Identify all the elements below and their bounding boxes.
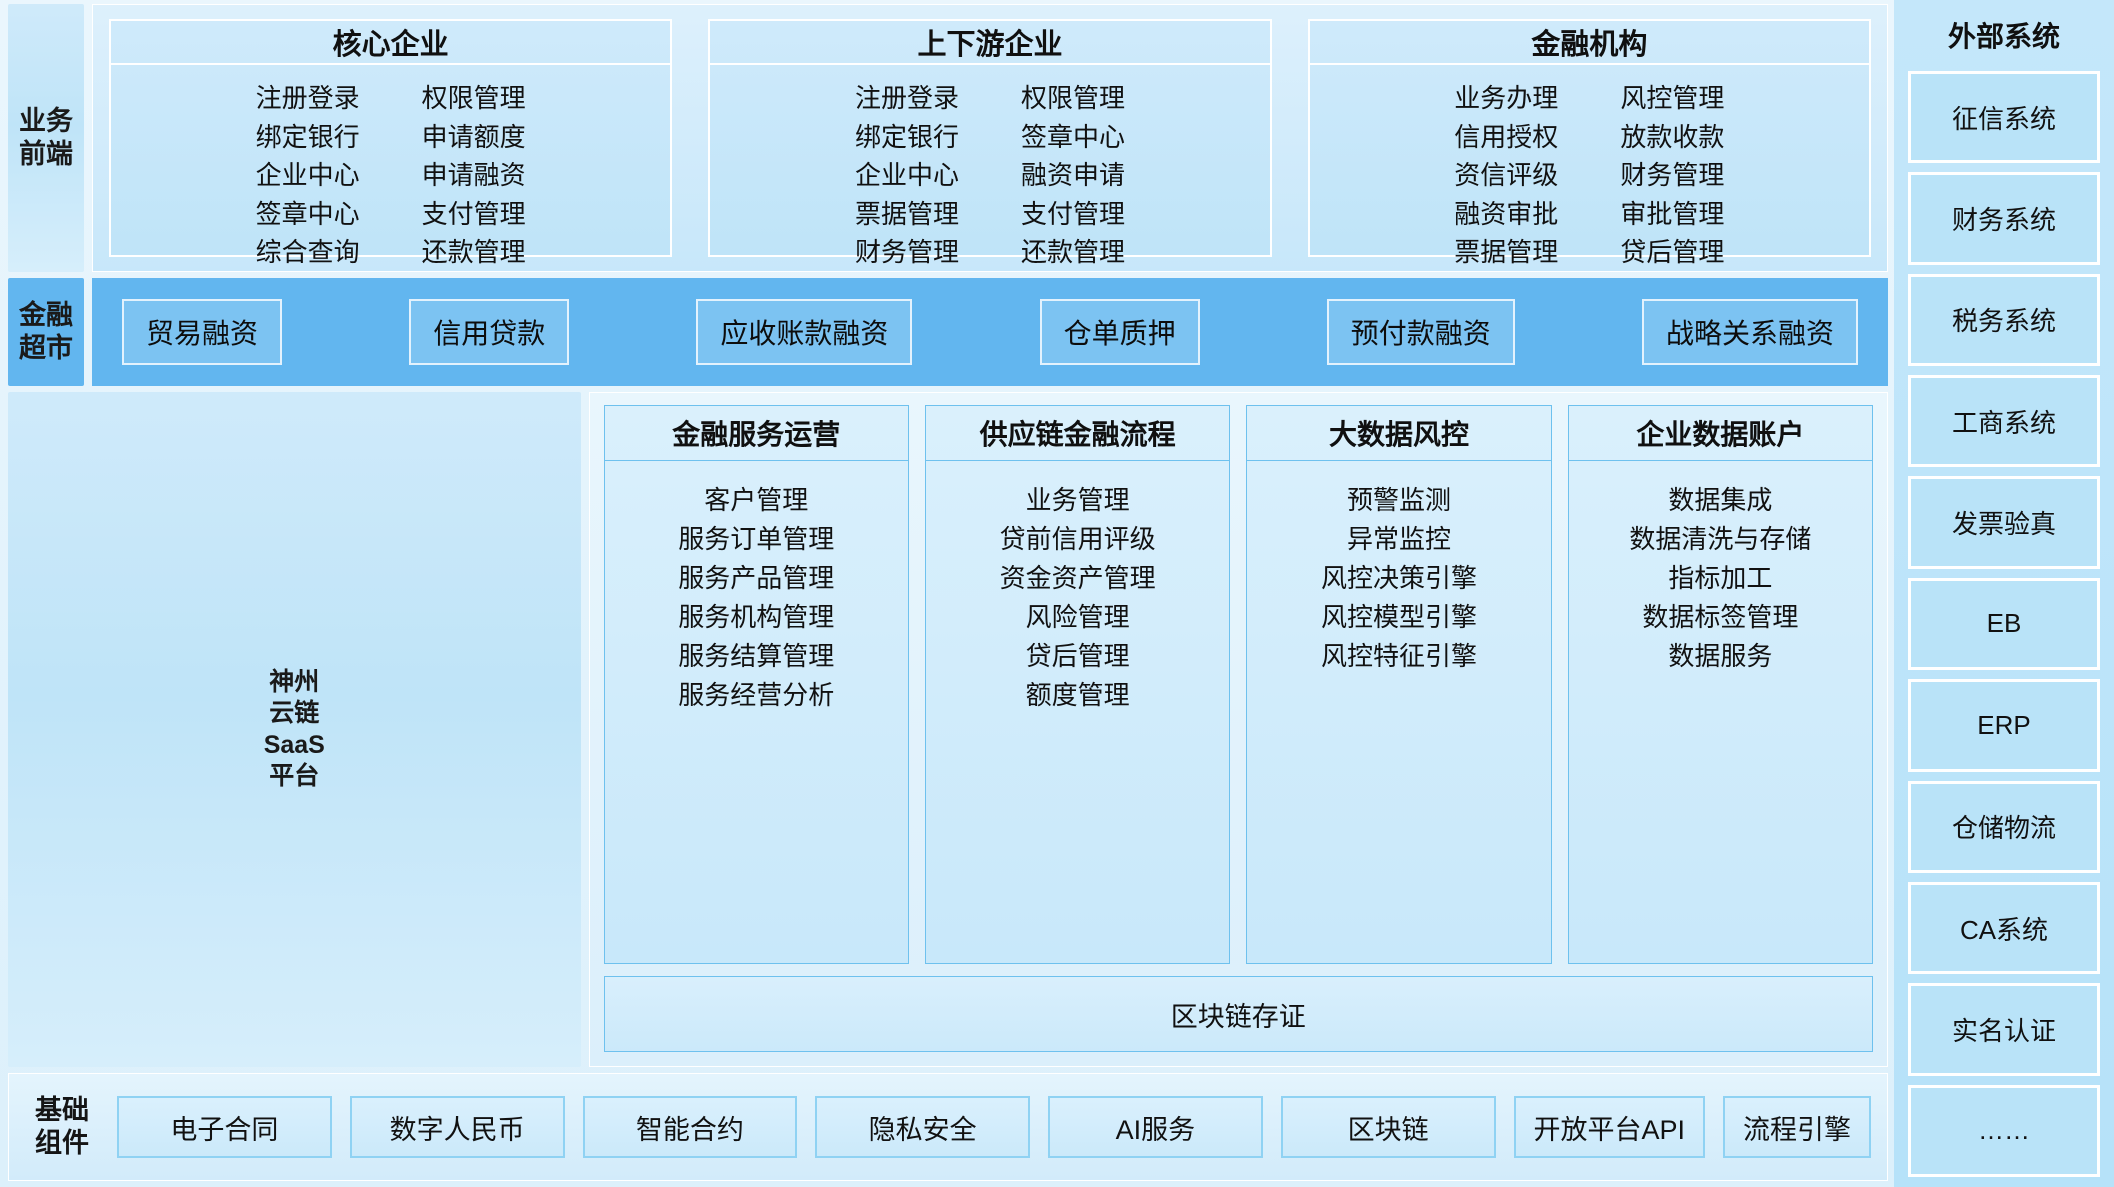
base-component-ai-service[interactable]: AI服务 bbox=[1048, 1096, 1263, 1158]
frontend-cards-container: 核心企业 注册登录 绑定银行 企业中心 签章中心 综合查询 权限管理 申请额度 bbox=[92, 4, 1888, 272]
feature-item[interactable]: 业务办理 bbox=[1454, 81, 1558, 116]
module-item[interactable]: 风控决策引擎 bbox=[1321, 561, 1477, 595]
card-title-financial-institution: 金融机构 bbox=[1310, 21, 1869, 65]
card-body-core-enterprise: 注册登录 绑定银行 企业中心 签章中心 综合查询 权限管理 申请额度 申请融资 … bbox=[111, 65, 670, 274]
external-system-finance[interactable]: 财务系统 bbox=[1908, 172, 2100, 264]
card-body-upstream-downstream: 注册登录 绑定银行 企业中心 票据管理 财务管理 权限管理 签章中心 融资申请 … bbox=[710, 65, 1269, 274]
feature-item[interactable]: 贷后管理 bbox=[1620, 235, 1724, 270]
feature-column-left: 注册登录 绑定银行 企业中心 签章中心 综合查询 bbox=[256, 81, 360, 270]
feature-column-right: 权限管理 申请额度 申请融资 支付管理 还款管理 bbox=[422, 81, 526, 270]
feature-column-right: 权限管理 签章中心 融资申请 支付管理 还款管理 bbox=[1021, 81, 1125, 270]
band-label-business-frontend: 业务前端 bbox=[8, 4, 84, 272]
external-system-warehouse-logistics[interactable]: 仓储物流 bbox=[1908, 781, 2100, 873]
feature-item[interactable]: 财务管理 bbox=[855, 235, 959, 270]
module-item[interactable]: 指标加工 bbox=[1668, 561, 1772, 595]
module-item[interactable]: 服务结算管理 bbox=[678, 639, 834, 673]
feature-item[interactable]: 支付管理 bbox=[422, 197, 526, 232]
module-supply-chain-finance-process[interactable]: 供应链金融流程 业务管理 贷前信用评级 资金资产管理 风险管理 贷后管理 额度管… bbox=[925, 405, 1230, 964]
module-item[interactable]: 贷前信用评级 bbox=[1000, 522, 1156, 556]
external-system-credit-reporting[interactable]: 征信系统 bbox=[1908, 71, 2100, 163]
module-enterprise-data-account[interactable]: 企业数据账户 数据集成 数据清洗与存储 指标加工 数据标签管理 数据服务 bbox=[1568, 405, 1873, 964]
external-system-eb[interactable]: EB bbox=[1908, 578, 2100, 670]
module-title-supply-chain-finance-process: 供应链金融流程 bbox=[926, 406, 1229, 461]
band-label-saas-platform: 神州云链SaaS平台 bbox=[8, 392, 581, 1067]
feature-item[interactable]: 票据管理 bbox=[855, 197, 959, 232]
external-system-tax[interactable]: 税务系统 bbox=[1908, 274, 2100, 366]
feature-item[interactable]: 权限管理 bbox=[1021, 81, 1125, 116]
module-item[interactable]: 风控特征引擎 bbox=[1321, 639, 1477, 673]
band-label-financial-marketplace: 金融超市 bbox=[8, 278, 84, 386]
feature-item[interactable]: 企业中心 bbox=[855, 158, 959, 193]
band-label-base-components: 基础组件 bbox=[25, 1094, 99, 1160]
feature-item[interactable]: 注册登录 bbox=[256, 81, 360, 116]
feature-column-left: 注册登录 绑定银行 企业中心 票据管理 财务管理 bbox=[855, 81, 959, 270]
feature-item[interactable]: 签章中心 bbox=[1021, 120, 1125, 155]
card-upstream-downstream-enterprise[interactable]: 上下游企业 注册登录 绑定银行 企业中心 票据管理 财务管理 权限管理 签章中心 bbox=[708, 19, 1271, 257]
module-item[interactable]: 额度管理 bbox=[1026, 678, 1130, 712]
band-financial-marketplace: 金融超市 贸易融资 信用贷款 应收账款融资 仓单质押 预付款融资 战略关系融资 bbox=[8, 278, 1888, 386]
module-body-supply-chain-finance-process: 业务管理 贷前信用评级 资金资产管理 风险管理 贷后管理 额度管理 bbox=[926, 461, 1229, 963]
band-business-frontend: 业务前端 核心企业 注册登录 绑定银行 企业中心 签章中心 综合查询 权限管理 bbox=[8, 4, 1888, 272]
module-item[interactable]: 业务管理 bbox=[1026, 483, 1130, 517]
module-body-big-data-risk-control: 预警监测 异常监控 风控决策引擎 风控模型引擎 风控特征引擎 bbox=[1247, 461, 1550, 963]
feature-item[interactable]: 还款管理 bbox=[422, 235, 526, 270]
base-component-open-platform-api[interactable]: 开放平台API bbox=[1514, 1096, 1706, 1158]
base-component-digital-rmb[interactable]: 数字人民币 bbox=[350, 1096, 565, 1158]
feature-item[interactable]: 绑定银行 bbox=[256, 120, 360, 155]
band-base-components: 基础组件 电子合同 数字人民币 智能合约 隐私安全 AI服务 区块链 开放平台A… bbox=[8, 1073, 1888, 1181]
saas-modules-container: 金融服务运营 客户管理 服务订单管理 服务产品管理 服务机构管理 服务结算管理 … bbox=[589, 392, 1888, 1067]
module-item[interactable]: 贷后管理 bbox=[1026, 639, 1130, 673]
feature-item[interactable]: 注册登录 bbox=[855, 81, 959, 116]
feature-item[interactable]: 风控管理 bbox=[1620, 81, 1724, 116]
marketplace-item-credit-loan[interactable]: 信用贷款 bbox=[409, 299, 569, 365]
external-system-ca[interactable]: CA系统 bbox=[1908, 882, 2100, 974]
external-systems-title: 外部系统 bbox=[1948, 8, 2060, 62]
module-item[interactable]: 数据清洗与存储 bbox=[1629, 522, 1811, 556]
module-financial-service-operation[interactable]: 金融服务运营 客户管理 服务订单管理 服务产品管理 服务机构管理 服务结算管理 … bbox=[604, 405, 909, 964]
module-item[interactable]: 服务机构管理 bbox=[678, 600, 834, 634]
module-item[interactable]: 服务产品管理 bbox=[678, 561, 834, 595]
module-item[interactable]: 服务订单管理 bbox=[678, 522, 834, 556]
module-big-data-risk-control[interactable]: 大数据风控 预警监测 异常监控 风控决策引擎 风控模型引擎 风控特征引擎 bbox=[1246, 405, 1551, 964]
module-item[interactable]: 数据集成 bbox=[1668, 483, 1772, 517]
saas-module-row: 金融服务运营 客户管理 服务订单管理 服务产品管理 服务机构管理 服务结算管理 … bbox=[604, 405, 1873, 964]
external-systems-panel: 外部系统 征信系统 财务系统 税务系统 工商系统 发票验真 EB ERP 仓储物… bbox=[1894, 0, 2114, 1187]
architecture-diagram: 业务前端 核心企业 注册登录 绑定银行 企业中心 签章中心 综合查询 权限管理 bbox=[0, 0, 2114, 1187]
module-title-financial-service-operation: 金融服务运营 bbox=[605, 406, 908, 461]
base-component-process-engine[interactable]: 流程引擎 bbox=[1723, 1096, 1871, 1158]
feature-item[interactable]: 企业中心 bbox=[256, 158, 360, 193]
card-financial-institution[interactable]: 金融机构 业务办理 信用授权 资信评级 融资审批 票据管理 风控管理 放款收款 bbox=[1308, 19, 1871, 257]
module-item[interactable]: 客户管理 bbox=[704, 483, 808, 517]
base-component-smart-contract[interactable]: 智能合约 bbox=[583, 1096, 798, 1158]
main-column: 业务前端 核心企业 注册登录 绑定银行 企业中心 签章中心 综合查询 权限管理 bbox=[0, 0, 1894, 1187]
module-body-enterprise-data-account: 数据集成 数据清洗与存储 指标加工 数据标签管理 数据服务 bbox=[1569, 461, 1872, 963]
module-item[interactable]: 异常监控 bbox=[1347, 522, 1451, 556]
feature-item[interactable]: 财务管理 bbox=[1620, 158, 1724, 193]
base-component-electronic-contract[interactable]: 电子合同 bbox=[117, 1096, 332, 1158]
feature-column-right: 风控管理 放款收款 财务管理 审批管理 贷后管理 bbox=[1620, 81, 1724, 270]
feature-item[interactable]: 申请额度 bbox=[422, 120, 526, 155]
feature-column-left: 业务办理 信用授权 资信评级 融资审批 票据管理 bbox=[1454, 81, 1558, 270]
external-system-business-registration[interactable]: 工商系统 bbox=[1908, 375, 2100, 467]
base-components-container: 基础组件 电子合同 数字人民币 智能合约 隐私安全 AI服务 区块链 开放平台A… bbox=[8, 1073, 1888, 1181]
feature-item[interactable]: 融资申请 bbox=[1021, 158, 1125, 193]
marketplace-item-receivables-finance[interactable]: 应收账款融资 bbox=[696, 299, 912, 365]
module-item[interactable]: 数据服务 bbox=[1668, 639, 1772, 673]
feature-item[interactable]: 还款管理 bbox=[1021, 235, 1125, 270]
external-system-more[interactable]: …… bbox=[1908, 1085, 2100, 1177]
feature-item[interactable]: 融资审批 bbox=[1454, 197, 1558, 232]
feature-item[interactable]: 绑定银行 bbox=[855, 120, 959, 155]
feature-item[interactable]: 审批管理 bbox=[1620, 197, 1724, 232]
module-title-big-data-risk-control: 大数据风控 bbox=[1247, 406, 1550, 461]
card-core-enterprise[interactable]: 核心企业 注册登录 绑定银行 企业中心 签章中心 综合查询 权限管理 申请额度 bbox=[109, 19, 672, 257]
feature-item[interactable]: 权限管理 bbox=[422, 81, 526, 116]
external-system-erp[interactable]: ERP bbox=[1908, 679, 2100, 771]
band-saas-platform: 神州云链SaaS平台 金融服务运营 客户管理 服务订单管理 服务产品管理 服务机… bbox=[8, 392, 1888, 1067]
module-item[interactable]: 预警监测 bbox=[1347, 483, 1451, 517]
feature-item[interactable]: 放款收款 bbox=[1620, 120, 1724, 155]
card-body-financial-institution: 业务办理 信用授权 资信评级 融资审批 票据管理 风控管理 放款收款 财务管理 … bbox=[1310, 65, 1869, 274]
feature-item[interactable]: 签章中心 bbox=[256, 197, 360, 232]
card-title-core-enterprise: 核心企业 bbox=[111, 21, 670, 65]
external-system-invoice-verification[interactable]: 发票验真 bbox=[1908, 476, 2100, 568]
feature-item[interactable]: 票据管理 bbox=[1454, 235, 1558, 270]
feature-item[interactable]: 支付管理 bbox=[1021, 197, 1125, 232]
marketplace-items-container: 贸易融资 信用贷款 应收账款融资 仓单质押 预付款融资 战略关系融资 bbox=[92, 278, 1888, 386]
marketplace-item-prepayment-finance[interactable]: 预付款融资 bbox=[1327, 299, 1515, 365]
feature-item[interactable]: 信用授权 bbox=[1454, 120, 1558, 155]
marketplace-item-trade-finance[interactable]: 贸易融资 bbox=[122, 299, 282, 365]
module-item[interactable]: 资金资产管理 bbox=[1000, 561, 1156, 595]
module-item[interactable]: 风控模型引擎 bbox=[1321, 600, 1477, 634]
external-system-real-name-authentication[interactable]: 实名认证 bbox=[1908, 983, 2100, 1075]
card-title-upstream-downstream: 上下游企业 bbox=[710, 21, 1269, 65]
module-title-enterprise-data-account: 企业数据账户 bbox=[1569, 406, 1872, 461]
module-item[interactable]: 风险管理 bbox=[1026, 600, 1130, 634]
blockchain-evidence-bar[interactable]: 区块链存证 bbox=[604, 976, 1873, 1052]
module-item[interactable]: 服务经营分析 bbox=[678, 678, 834, 712]
feature-item[interactable]: 申请融资 bbox=[422, 158, 526, 193]
marketplace-item-strategic-relationship-finance[interactable]: 战略关系融资 bbox=[1642, 299, 1858, 365]
base-component-privacy-security[interactable]: 隐私安全 bbox=[815, 1096, 1030, 1158]
module-body-financial-service-operation: 客户管理 服务订单管理 服务产品管理 服务机构管理 服务结算管理 服务经营分析 bbox=[605, 461, 908, 963]
feature-item[interactable]: 综合查询 bbox=[256, 235, 360, 270]
module-item[interactable]: 数据标签管理 bbox=[1642, 600, 1798, 634]
feature-item[interactable]: 资信评级 bbox=[1454, 158, 1558, 193]
base-component-blockchain[interactable]: 区块链 bbox=[1281, 1096, 1496, 1158]
marketplace-item-warehouse-receipt-pledge[interactable]: 仓单质押 bbox=[1040, 299, 1200, 365]
